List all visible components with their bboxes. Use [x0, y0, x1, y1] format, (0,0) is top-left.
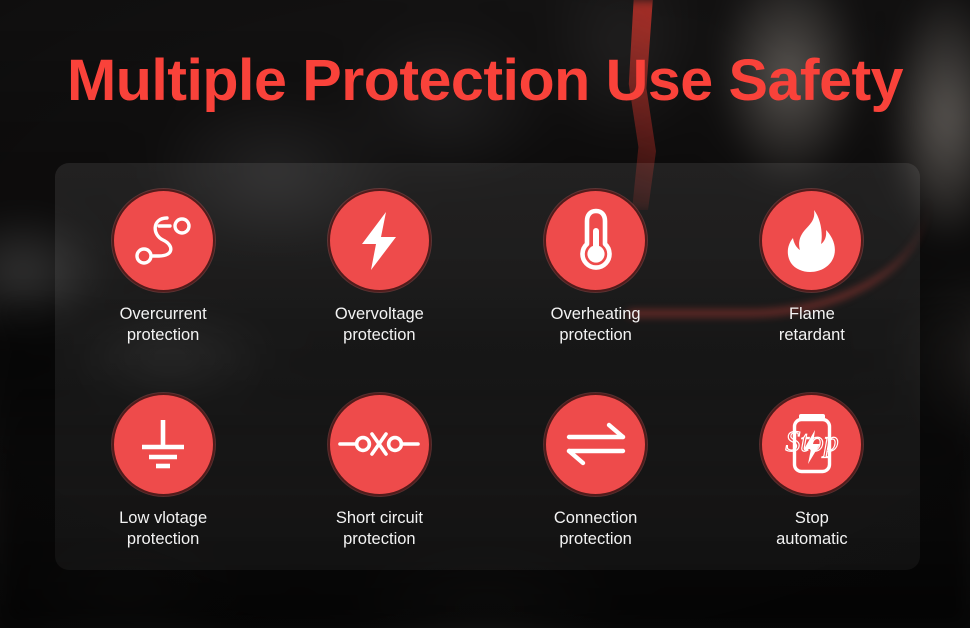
lightning-bolt-icon: [356, 210, 402, 272]
feature-label: Connection protection: [554, 508, 637, 550]
feature-icon-badge: [112, 189, 215, 292]
feature-item-overheating: Overheating protection: [488, 163, 704, 346]
feature-item-stop-automatic: Stop Stop automatic: [704, 367, 920, 550]
feature-item-connection: Connection protection: [488, 367, 704, 550]
feature-icon-badge: [544, 189, 647, 292]
short-circuit-icon: [338, 426, 420, 462]
feature-icon-badge: Stop: [760, 393, 863, 496]
feature-label: Low vlotage protection: [119, 508, 207, 550]
feature-icon-badge: [328, 393, 431, 496]
feature-label: Short circuit protection: [336, 508, 423, 550]
feature-item-overvoltage: Overvoltage protection: [271, 163, 487, 346]
feature-label: Overcurrent protection: [120, 304, 207, 346]
feature-label: Flame retardant: [779, 304, 845, 346]
feature-icon-badge: [112, 393, 215, 496]
overcurrent-circuit-icon: [132, 213, 194, 269]
feature-icon-badge: [544, 393, 647, 496]
promo-banner: Multiple Protection Use Safety Overcurre…: [0, 0, 970, 628]
feature-icon-badge: [328, 189, 431, 292]
feature-item-flame: Flame retardant: [704, 163, 920, 346]
feature-item-overcurrent: Overcurrent protection: [55, 163, 271, 346]
thermometer-icon: [574, 208, 618, 274]
ground-earth-icon: [134, 415, 192, 473]
feature-label: Stop automatic: [776, 508, 848, 550]
bidirectional-arrows-icon: [565, 421, 627, 467]
flame-icon: [783, 209, 841, 273]
feature-icon-badge: [760, 189, 863, 292]
battery-stop-icon: Stop: [773, 410, 851, 478]
feature-grid: Overcurrent protection Overvoltage prote…: [55, 163, 920, 570]
feature-item-low-voltage: Low vlotage protection: [55, 367, 271, 550]
feature-label: Overvoltage protection: [335, 304, 424, 346]
feature-item-short-circuit: Short circuit protection: [271, 367, 487, 550]
feature-label: Overheating protection: [551, 304, 641, 346]
banner-title: Multiple Protection Use Safety: [0, 48, 970, 114]
